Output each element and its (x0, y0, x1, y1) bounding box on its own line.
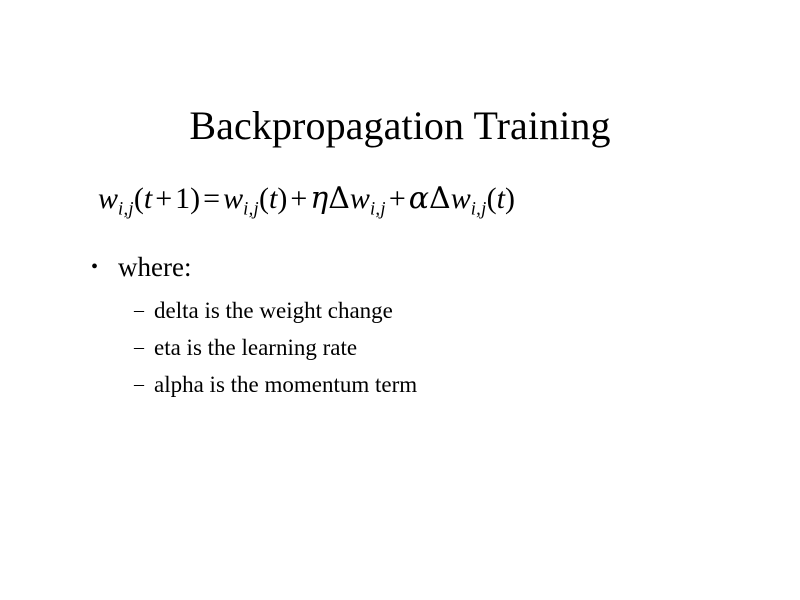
eq-token-close3: ) (505, 182, 515, 215)
eq-token-plus1: + (152, 182, 175, 215)
eq-token-plus3: + (386, 182, 409, 215)
sub-bullet-item-delta: – delta is the weight change (86, 292, 746, 329)
eq-token-plus2: + (287, 182, 310, 215)
eq-token-eta: η (310, 181, 328, 216)
page-title: Backpropagation Training (0, 103, 800, 149)
eq-token-sub1: i,j (118, 198, 134, 219)
eq-token-close2: ) (277, 182, 287, 215)
eq-token-sub4: i,j (471, 198, 487, 219)
body-bullet-list: • where: – delta is the weight change – … (86, 248, 746, 403)
bullet-dash-icon: – (134, 292, 144, 329)
eq-token-w3: w (350, 182, 370, 215)
eq-token-open3: ( (487, 182, 497, 215)
sub-bullet-label-eta: eta is the learning rate (154, 335, 357, 360)
eq-token-sub3: i,j (370, 198, 386, 219)
sub-bullet-item-alpha: – alpha is the momentum term (86, 366, 746, 403)
eq-token-w4: w (451, 182, 471, 215)
bullet-dash-icon: – (134, 366, 144, 403)
eq-token-delta2: Δ (429, 181, 451, 216)
eq-token-open2: ( (259, 182, 269, 215)
sub-bullet-list: – delta is the weight change – eta is th… (86, 292, 746, 403)
bullet-dot-icon: • (91, 248, 98, 286)
eq-token-delta1: Δ (328, 181, 350, 216)
eq-token-t3: t (497, 182, 505, 215)
slide-canvas: Backpropagation Training wi,j(t+1)=wi,j(… (0, 0, 800, 600)
sub-bullet-label-alpha: alpha is the momentum term (154, 372, 417, 397)
eq-token-w1: w (98, 182, 118, 215)
bullet-dash-icon: – (134, 329, 144, 366)
sub-bullet-label-delta: delta is the weight change (154, 298, 393, 323)
eq-token-w2: w (223, 182, 243, 215)
eq-token-sub2: i,j (243, 198, 259, 219)
bullet-label-where: where: (118, 252, 191, 282)
eq-token-t1: t (144, 182, 152, 215)
sub-bullet-item-eta: – eta is the learning rate (86, 329, 746, 366)
equation-expression: wi,j(t+1)=wi,j(t)+ηΔwi,j+αΔwi,j(t) (98, 182, 515, 215)
eq-token-one: 1 (175, 182, 190, 215)
eq-token-equals: = (200, 182, 223, 215)
eq-token-open1: ( (134, 182, 144, 215)
eq-token-close1: ) (190, 182, 200, 215)
bullet-item-where: • where: (86, 248, 746, 286)
eq-token-alpha: α (409, 181, 429, 216)
weight-update-equation: wi,j(t+1)=wi,j(t)+ηΔwi,j+αΔwi,j(t) (98, 180, 515, 228)
